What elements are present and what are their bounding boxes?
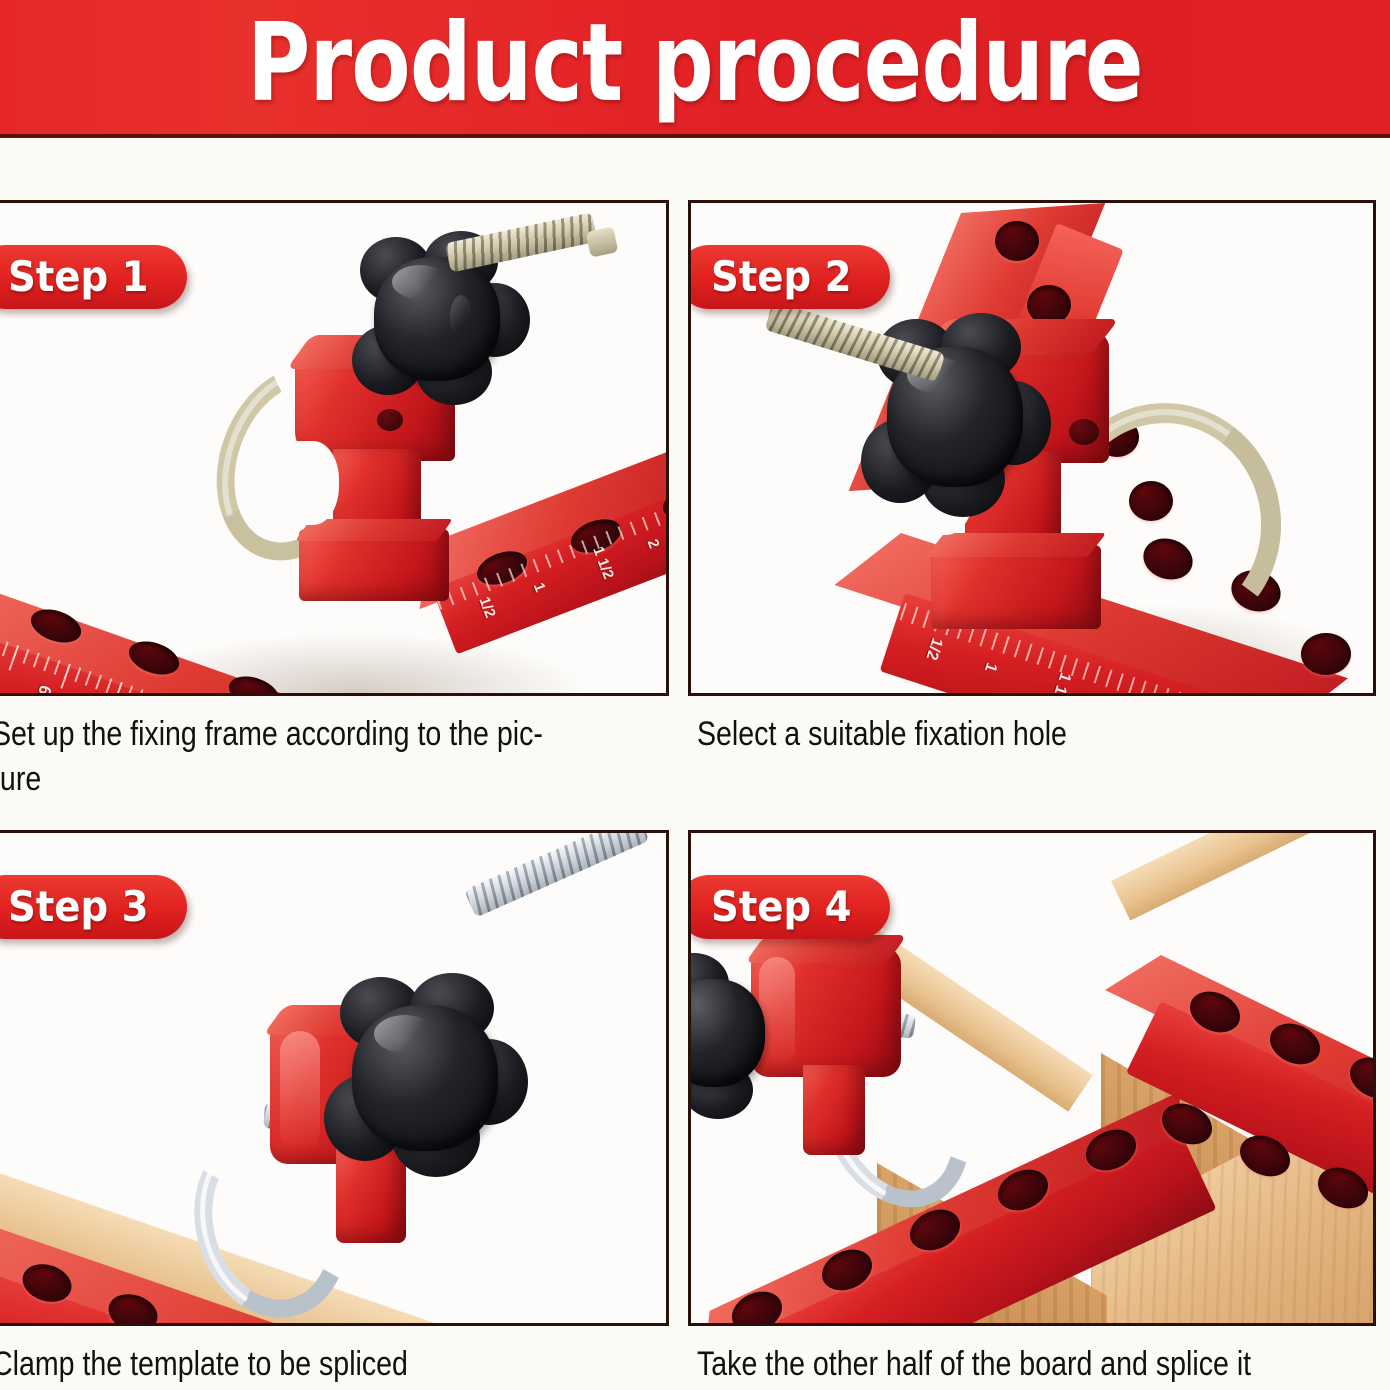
step-badge-3: Step 3: [0, 875, 187, 939]
step-1-illustration: 70 60 50 40 30 20 10: [0, 203, 666, 693]
step-badge-1: Step 1: [0, 245, 187, 309]
page-title: Product procedure: [247, 10, 1143, 118]
step-3-illustration: Step 3: [0, 833, 666, 1323]
step-caption-1: Set up the fixing frame according to the…: [0, 712, 664, 802]
step-panel-2: 1/2 1 1 1/2 2: [688, 200, 1376, 696]
step-badge-4: Step 4: [691, 875, 890, 939]
step-panel-4: Step 4: [688, 830, 1376, 1326]
step-2-illustration: 1/2 1 1 1/2 2: [691, 203, 1373, 693]
step-badge-2: Step 2: [691, 245, 890, 309]
step-caption-4: Take the other half of the board and spl…: [697, 1342, 1386, 1387]
header-banner: Product procedure: [0, 0, 1390, 138]
step-panel-1: 70 60 50 40 30 20 10: [0, 200, 669, 696]
infographic-page: Product procedure 70: [0, 0, 1390, 1390]
step-caption-3: Clamp the template to be spliced: [0, 1342, 664, 1387]
step-caption-2: Select a suitable fixation hole: [697, 712, 1369, 757]
step-4-illustration: Step 4: [691, 833, 1373, 1323]
step-panel-3: Step 3: [0, 830, 669, 1326]
